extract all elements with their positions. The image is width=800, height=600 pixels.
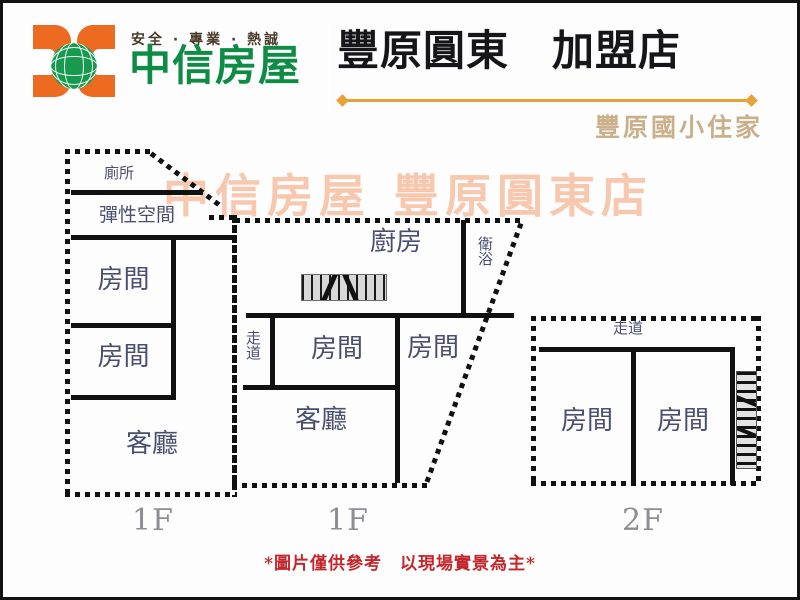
wall-left-toilet-bottom — [71, 190, 203, 195]
plan-mid-outline-bottom — [232, 483, 427, 488]
wall-mid-kitchen-bottom — [246, 313, 514, 318]
stairs-icon-right — [736, 371, 757, 469]
disclaimer-text: *圖片僅供參考 以現場實景為主* — [3, 549, 797, 574]
room-label-living-room-mid: 客廳 — [251, 407, 391, 434]
plan-left-outline-bottom — [65, 492, 237, 497]
wall-right-room-divider — [631, 347, 636, 485]
wall-mid-corridor-right — [270, 315, 275, 387]
floorplan-flyer: 安全 · 專業 · 熱誠 中信房屋 豐原圓東 加盟店 豐原國小住家 中信房屋 豐… — [0, 0, 800, 600]
room-label-flex-space: 彈性空間 — [71, 206, 203, 226]
room-label-room-6: 房間 — [639, 408, 727, 435]
room-label-toilet: 廁所 — [71, 166, 167, 182]
floor-label-middle: 1F — [298, 503, 398, 538]
wall-right-stair-left — [730, 347, 735, 485]
room-label-room-3: 房間 — [278, 336, 396, 363]
plan-left-outline-left — [65, 149, 70, 497]
room-label-room-1: 房間 — [71, 267, 176, 294]
wall-mid-bath-left — [461, 220, 466, 318]
wall-right-corridor-bottom — [539, 347, 735, 352]
room-label-corridor-right: 走道 — [583, 321, 673, 337]
room-label-corridor-mid: 走道 — [240, 330, 260, 360]
floor-label-right: 2F — [593, 503, 693, 538]
plan-mid-outline-top — [235, 218, 523, 223]
room-label-room-2: 房間 — [71, 344, 176, 371]
floor-label-left: 1F — [103, 503, 203, 538]
room-label-living-room: 客廳 — [71, 431, 233, 458]
plan-right-outline-bottom — [531, 481, 761, 486]
plan-left-outline-top — [65, 149, 153, 154]
wall-left-room1-bottom — [71, 323, 176, 328]
stairs-icon-middle — [301, 274, 387, 301]
room-label-room-5: 房間 — [543, 408, 631, 435]
wall-left-flex-bottom — [71, 235, 233, 240]
wall-left-room2-bottom — [71, 395, 176, 400]
wall-mid-room-bottom — [243, 385, 398, 390]
room-label-room-4: 房間 — [407, 335, 441, 362]
plan-right-outline-left — [531, 316, 536, 486]
room-label-bathroom: 衛浴 — [472, 236, 492, 266]
room-label-kitchen: 廚房 — [341, 229, 451, 256]
wall-left-rooms-right — [171, 235, 176, 400]
